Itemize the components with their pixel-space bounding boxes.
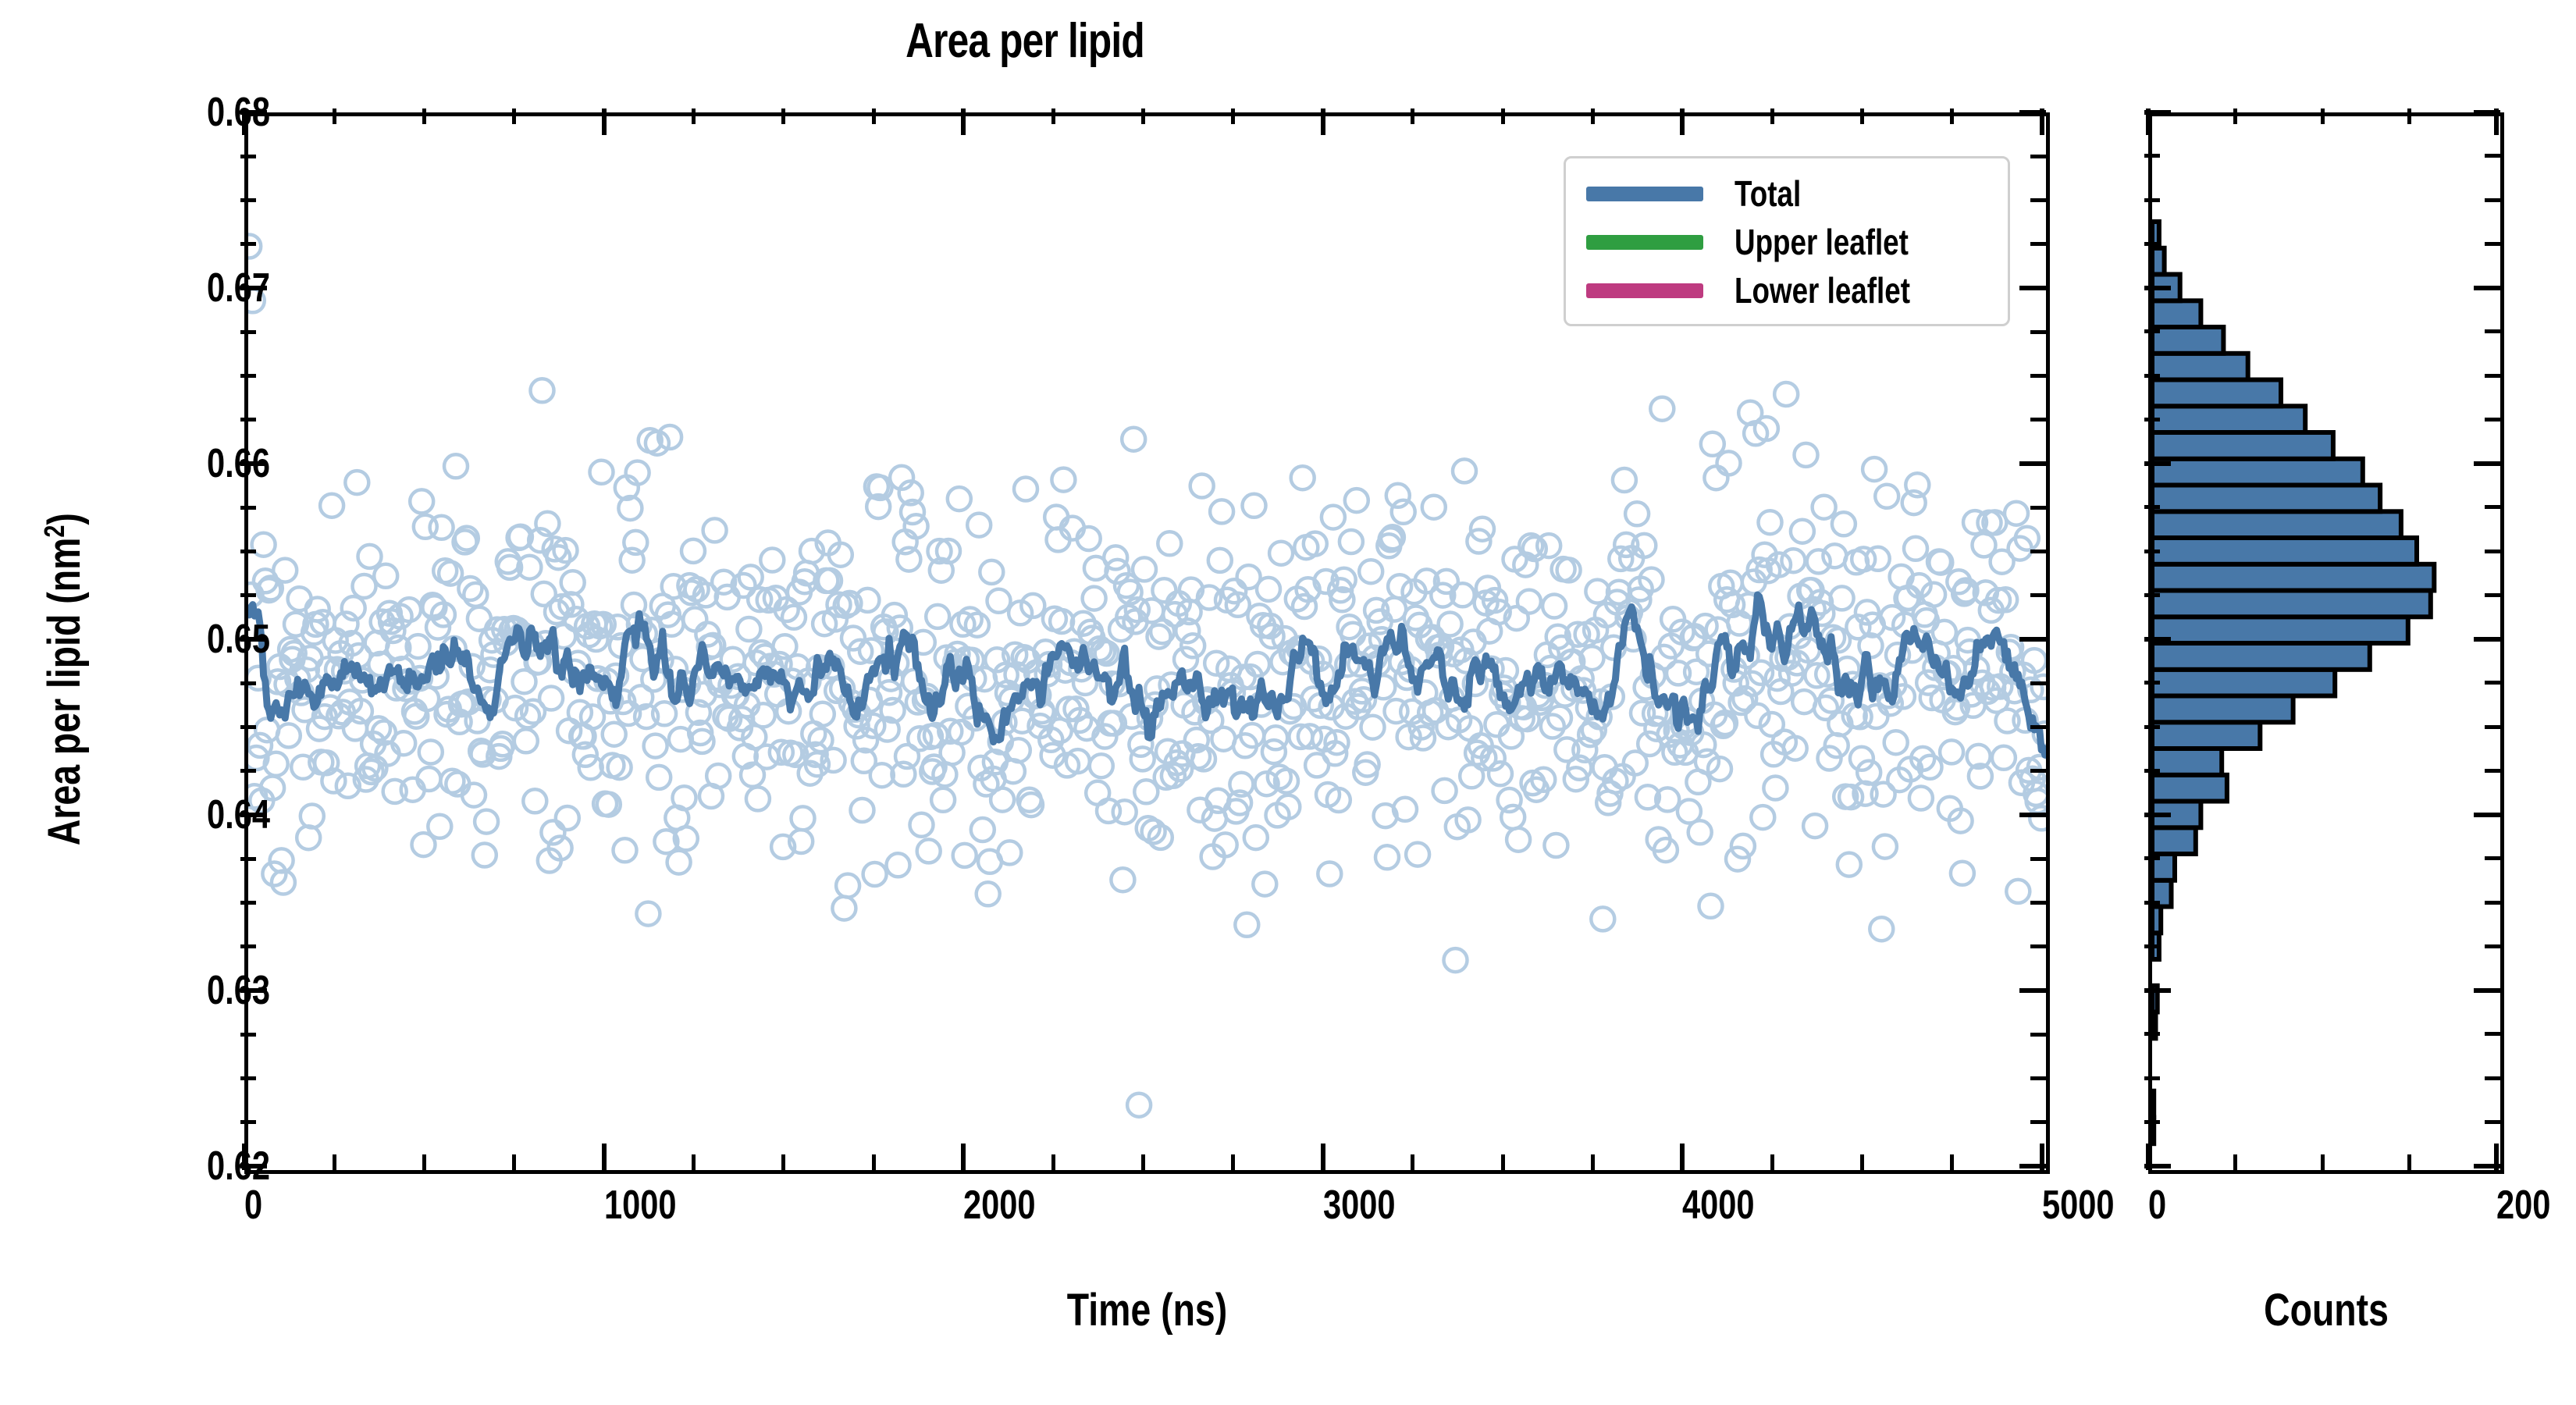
x-tick-major-top bbox=[961, 108, 966, 135]
y-tick-minor-right bbox=[2030, 155, 2046, 158]
x-tick-minor-top bbox=[512, 108, 516, 124]
histogram-bar bbox=[2152, 459, 2363, 486]
y-tick-minor-right bbox=[2030, 593, 2046, 597]
histogram-bar bbox=[2152, 511, 2401, 538]
hist-y-tick bbox=[2144, 154, 2160, 158]
hist-x-tick-major bbox=[2146, 1144, 2151, 1170]
hist-y-tick bbox=[2144, 550, 2160, 553]
hist-x-tick-major-top bbox=[2494, 108, 2499, 135]
x-tick-minor-top bbox=[692, 108, 696, 124]
hist-x-tick-major-top bbox=[2146, 108, 2151, 135]
y-tick-minor bbox=[240, 550, 256, 553]
histogram-bar bbox=[2152, 354, 2248, 380]
hist-x-tick-major bbox=[2494, 1144, 2499, 1170]
hist-y-tick bbox=[2144, 593, 2160, 597]
y-tick-minor bbox=[240, 901, 256, 905]
x-tick-minor-top bbox=[1770, 108, 1774, 124]
histogram-bar bbox=[2152, 775, 2227, 802]
y-tick-minor bbox=[240, 1076, 256, 1080]
x-tick-minor-top bbox=[1141, 108, 1145, 124]
histogram-bar bbox=[2152, 617, 2408, 643]
hist-y-tick-right bbox=[2485, 1076, 2500, 1080]
hist-y-tick bbox=[2144, 374, 2160, 378]
y-axis-label-text: Area per lipid (nm bbox=[39, 538, 90, 845]
hist-y-tick bbox=[2144, 1076, 2160, 1080]
x-tick-minor-top bbox=[1950, 108, 1954, 124]
y-tick-minor-right bbox=[2030, 681, 2046, 685]
x-tick-minor-top bbox=[872, 108, 876, 124]
histogram-panel bbox=[2148, 112, 2504, 1174]
histogram-bar bbox=[2152, 406, 2305, 432]
histogram-bar bbox=[2152, 670, 2335, 696]
y-tick-minor bbox=[240, 1033, 256, 1037]
y-tick-major-right bbox=[2019, 637, 2046, 642]
y-tick-minor-right bbox=[2030, 944, 2046, 948]
hist-y-tick-right bbox=[2485, 550, 2500, 553]
y-tick-minor bbox=[240, 155, 256, 158]
hist-y-tick-right bbox=[2485, 856, 2500, 860]
hist-x-tick-minor bbox=[2321, 1154, 2325, 1170]
y-tick-major-right bbox=[2019, 286, 2046, 290]
hist-y-tick-right bbox=[2485, 374, 2500, 378]
y-tick-major-right bbox=[2019, 988, 2046, 993]
x-tick-minor bbox=[781, 1154, 785, 1170]
histogram-plot-area bbox=[2152, 116, 2500, 1170]
hist-y-tick bbox=[2144, 637, 2171, 642]
hist-y-tick bbox=[2144, 1120, 2160, 1124]
y-axis-label-tail: ) bbox=[39, 513, 90, 525]
hist-y-tick-right bbox=[2474, 813, 2500, 817]
histogram-bar bbox=[2152, 301, 2201, 327]
y-tick-minor bbox=[240, 418, 256, 421]
histogram-bar bbox=[2152, 248, 2165, 275]
histogram-bar bbox=[2152, 722, 2260, 749]
histogram-bar bbox=[2152, 907, 2161, 934]
y-tick-minor-right bbox=[2030, 1033, 2046, 1037]
x-tick-major bbox=[961, 1144, 966, 1170]
hist-y-tick-right bbox=[2485, 242, 2500, 246]
hist-y-tick-right bbox=[2485, 329, 2500, 333]
y-tick-minor bbox=[240, 769, 256, 773]
hist-y-tick bbox=[2144, 418, 2160, 421]
legend-label: Upper leaflet bbox=[1735, 221, 1909, 263]
x-tick-minor bbox=[512, 1154, 516, 1170]
x-tick-major-top bbox=[2040, 108, 2044, 135]
y-tick-minor bbox=[240, 857, 256, 861]
histogram-bar bbox=[2152, 696, 2293, 723]
hist-y-tick-right bbox=[2485, 725, 2500, 729]
hist-y-tick-right bbox=[2485, 944, 2500, 948]
x-tick-major bbox=[1321, 1144, 1325, 1170]
x-tick-minor bbox=[422, 1154, 426, 1170]
hist-y-tick bbox=[2144, 944, 2160, 948]
histogram-bar bbox=[2152, 327, 2223, 354]
hist-y-tick bbox=[2144, 242, 2160, 246]
hist-y-tick bbox=[2144, 329, 2160, 333]
x-tick-minor bbox=[692, 1154, 696, 1170]
y-tick-minor-right bbox=[2030, 374, 2046, 378]
x-tick-minor bbox=[1051, 1154, 1055, 1170]
hist-x-tick-minor bbox=[2233, 1154, 2237, 1170]
y-tick-minor-right bbox=[2030, 418, 2046, 421]
x-tick-minor-top bbox=[1591, 108, 1595, 124]
hist-x-tick-minor-top bbox=[2407, 108, 2411, 124]
y-tick-minor-right bbox=[2030, 901, 2046, 905]
legend-swatch-icon bbox=[1586, 235, 1703, 250]
legend-label: Lower leaflet bbox=[1735, 269, 1910, 311]
hist-y-tick bbox=[2144, 198, 2160, 202]
hist-y-tick bbox=[2144, 461, 2171, 466]
x-tick-minor bbox=[1141, 1154, 1145, 1170]
histogram-bar bbox=[2152, 591, 2431, 617]
y-axis-label: Area per lipid (nm2) bbox=[41, 442, 87, 916]
figure-canvas: Area per lipid Area per lipid (nm2) Time… bbox=[0, 0, 2576, 1405]
hist-y-tick-right bbox=[2485, 681, 2500, 685]
hist-y-tick bbox=[2144, 681, 2160, 685]
hist-y-tick bbox=[2144, 901, 2160, 905]
y-tick-minor-right bbox=[2030, 725, 2046, 729]
y-tick-minor-right bbox=[2030, 1076, 2046, 1080]
hist-y-tick-right bbox=[2474, 988, 2500, 993]
y-tick-minor bbox=[240, 374, 256, 378]
legend-item-upper-leaflet[interactable]: Upper leaflet bbox=[1586, 218, 1987, 266]
x-tick-major-top bbox=[1321, 108, 1325, 135]
hist-y-tick bbox=[2144, 769, 2160, 773]
histogram-bar bbox=[2152, 1091, 2154, 1118]
hist-y-tick bbox=[2144, 856, 2160, 860]
hist-y-tick-right bbox=[2485, 505, 2500, 509]
hist-y-tick-right bbox=[2485, 418, 2500, 421]
hist-y-tick-right bbox=[2474, 637, 2500, 642]
y-axis-label-exponent: 2 bbox=[38, 525, 70, 538]
x-tick-major bbox=[602, 1144, 607, 1170]
hist-y-tick-right bbox=[2485, 198, 2500, 202]
y-tick-minor bbox=[240, 593, 256, 597]
y-tick-minor-right bbox=[2030, 769, 2046, 773]
x-tick-minor bbox=[1860, 1154, 1864, 1170]
histogram-bar bbox=[2152, 486, 2380, 512]
y-tick-minor-right bbox=[2030, 550, 2046, 553]
hist-y-tick bbox=[2144, 286, 2171, 290]
x-tick-minor-top bbox=[781, 108, 785, 124]
legend-item-total[interactable]: Total bbox=[1586, 169, 1987, 218]
histogram-bar bbox=[2152, 749, 2222, 775]
y-tick-minor-right bbox=[2030, 506, 2046, 510]
x-tick-minor-top bbox=[422, 108, 426, 124]
y-tick-minor bbox=[240, 725, 256, 729]
hist-y-tick-right bbox=[2485, 769, 2500, 773]
y-tick-minor-right bbox=[2030, 1120, 2046, 1124]
hist-y-tick-right bbox=[2485, 901, 2500, 905]
y-tick-minor bbox=[240, 198, 256, 202]
histogram-bar bbox=[2152, 432, 2333, 459]
y-tick-major-right bbox=[2019, 461, 2046, 466]
legend-swatch-icon bbox=[1586, 187, 1703, 201]
hist-y-tick-right bbox=[2485, 1120, 2500, 1124]
hist-y-tick-right bbox=[2485, 1032, 2500, 1036]
x-tick-minor bbox=[1231, 1154, 1235, 1170]
x-tick-minor bbox=[1950, 1154, 1954, 1170]
histogram-bar bbox=[2152, 643, 2370, 670]
legend-swatch-icon bbox=[1586, 283, 1703, 298]
y-tick-minor bbox=[240, 506, 256, 510]
x-tick-major bbox=[2040, 1144, 2044, 1170]
histogram-bar bbox=[2152, 827, 2196, 854]
histogram-bar bbox=[2152, 538, 2417, 564]
hist-y-tick-right bbox=[2474, 286, 2500, 290]
legend-item-lower-leaflet[interactable]: Lower leaflet bbox=[1586, 266, 1987, 315]
x-tick-minor bbox=[1591, 1154, 1595, 1170]
y-tick-major-right bbox=[2019, 813, 2046, 817]
x-tick-major-top bbox=[1680, 108, 1685, 135]
x-tick-minor-top bbox=[1231, 108, 1235, 124]
x-tick-minor-top bbox=[1501, 108, 1505, 124]
hist-x-tick-minor-top bbox=[2233, 108, 2237, 124]
y-tick-minor-right bbox=[2030, 857, 2046, 861]
histogram-bar bbox=[2152, 564, 2434, 591]
x-tick-minor bbox=[1501, 1154, 1505, 1170]
y-tick-minor-right bbox=[2030, 242, 2046, 246]
y-tick-minor bbox=[240, 242, 256, 246]
hist-y-tick-right bbox=[2485, 154, 2500, 158]
hist-x-tick-minor-top bbox=[2321, 108, 2325, 124]
x-tick-minor-top bbox=[1860, 108, 1864, 124]
x-tick-minor-top bbox=[1051, 108, 1055, 124]
figure-title: Area per lipid bbox=[205, 17, 1845, 66]
hist-y-tick-right bbox=[2474, 461, 2500, 466]
x-tick-minor-top bbox=[333, 108, 336, 124]
x-axis-label: Time (ns) bbox=[425, 1288, 1869, 1333]
hist-y-tick bbox=[2144, 505, 2160, 509]
x-tick-minor-top bbox=[1411, 108, 1414, 124]
hist-y-tick bbox=[2144, 988, 2171, 993]
hist-x-tick-minor bbox=[2407, 1154, 2411, 1170]
hist-y-tick bbox=[2144, 725, 2160, 729]
histogram-bars bbox=[2152, 222, 2434, 1144]
x-tick-minor bbox=[872, 1154, 876, 1170]
y-tick-minor bbox=[240, 330, 256, 334]
x-tick-major bbox=[1680, 1144, 1685, 1170]
x-tick-minor bbox=[1770, 1154, 1774, 1170]
histogram-bar bbox=[2152, 380, 2281, 407]
scatter-points bbox=[248, 235, 2046, 1117]
y-tick-minor bbox=[240, 681, 256, 685]
x-tick-major-top bbox=[602, 108, 607, 135]
y-tick-minor-right bbox=[2030, 198, 2046, 202]
legend-label: Total bbox=[1735, 173, 1801, 215]
hist-x-axis-label: Counts bbox=[2184, 1288, 2469, 1333]
y-tick-minor bbox=[240, 944, 256, 948]
y-tick-minor-right bbox=[2030, 330, 2046, 334]
hist-y-tick bbox=[2144, 1032, 2160, 1036]
hist-y-tick-right bbox=[2485, 593, 2500, 597]
x-tick-minor bbox=[333, 1154, 336, 1170]
hist-y-tick bbox=[2144, 813, 2171, 817]
y-tick-minor bbox=[240, 1120, 256, 1124]
legend-box[interactable]: TotalUpper leafletLower leaflet bbox=[1564, 156, 2010, 326]
x-tick-minor bbox=[1411, 1154, 1414, 1170]
